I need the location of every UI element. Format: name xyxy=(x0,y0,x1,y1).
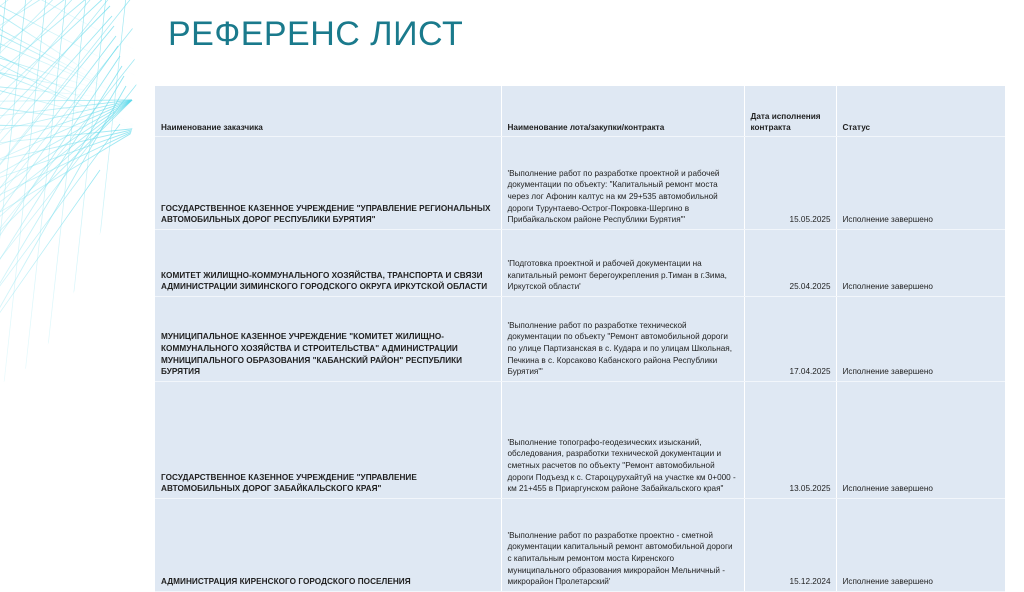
column-header-customer: Наименование заказчика xyxy=(155,86,501,137)
table-header: Наименование заказчика Наименование лота… xyxy=(155,86,1005,137)
cell-customer: КОМИТЕТ ЖИЛИЩНО-КОММУНАЛЬНОГО ХОЗЯЙСТВА,… xyxy=(155,230,501,297)
reference-list-table: Наименование заказчика Наименование лота… xyxy=(155,86,1005,592)
cell-lot: 'Выполнение работ по разработке техничес… xyxy=(501,297,744,382)
table-row: ГОСУДАРСТВЕННОЕ КАЗЕННОЕ УЧРЕЖДЕНИЕ "УПР… xyxy=(155,137,1005,230)
table-row: МУНИЦИПАЛЬНОЕ КАЗЕННОЕ УЧРЕЖДЕНИЕ "КОМИТ… xyxy=(155,297,1005,382)
cell-customer: МУНИЦИПАЛЬНОЕ КАЗЕННОЕ УЧРЕЖДЕНИЕ "КОМИТ… xyxy=(155,297,501,382)
cell-customer: ГОСУДАРСТВЕННОЕ КАЗЕННОЕ УЧРЕЖДЕНИЕ "УПР… xyxy=(155,137,501,230)
table-row: АДМИНИСТРАЦИЯ КИРЕНСКОГО ГОРОДСКОГО ПОСЕ… xyxy=(155,499,1005,592)
cell-customer: ГОСУДАРСТВЕННОЕ КАЗЕННОЕ УЧРЕЖДЕНИЕ "УПР… xyxy=(155,382,501,499)
cell-date: 25.04.2025 xyxy=(744,230,836,297)
cell-lot: 'Выполнение работ по разработке проектно… xyxy=(501,499,744,592)
cell-customer: АДМИНИСТРАЦИЯ КИРЕНСКОГО ГОРОДСКОГО ПОСЕ… xyxy=(155,499,501,592)
cell-date: 15.12.2024 xyxy=(744,499,836,592)
status-badge: Исполнение завершено xyxy=(836,230,1005,297)
cell-lot: 'Выполнение работ по разработке проектно… xyxy=(501,137,744,230)
table-body: ГОСУДАРСТВЕННОЕ КАЗЕННОЕ УЧРЕЖДЕНИЕ "УПР… xyxy=(155,137,1005,592)
status-badge: Исполнение завершено xyxy=(836,137,1005,230)
table-header-row: Наименование заказчика Наименование лота… xyxy=(155,86,1005,137)
status-badge: Исполнение завершено xyxy=(836,297,1005,382)
cell-date: 17.04.2025 xyxy=(744,297,836,382)
status-badge: Исполнение завершено xyxy=(836,382,1005,499)
column-header-status: Статус xyxy=(836,86,1005,137)
cell-lot: 'Подготовка проектной и рабочей документ… xyxy=(501,230,744,297)
cell-date: 15.05.2025 xyxy=(744,137,836,230)
column-header-date: Дата исполнения контракта xyxy=(744,86,836,137)
status-badge: Исполнение завершено xyxy=(836,499,1005,592)
cell-date: 13.05.2025 xyxy=(744,382,836,499)
table-row: ГОСУДАРСТВЕННОЕ КАЗЕННОЕ УЧРЕЖДЕНИЕ "УПР… xyxy=(155,382,1005,499)
wireframe-mesh-decoration xyxy=(0,0,175,420)
table-row: КОМИТЕТ ЖИЛИЩНО-КОММУНАЛЬНОГО ХОЗЯЙСТВА,… xyxy=(155,230,1005,297)
column-header-lot: Наименование лота/закупки/контракта xyxy=(501,86,744,137)
page-title: РЕФЕРЕНС ЛИСТ xyxy=(168,15,463,54)
cell-lot: 'Выполнение топографо-геодезических изыс… xyxy=(501,382,744,499)
